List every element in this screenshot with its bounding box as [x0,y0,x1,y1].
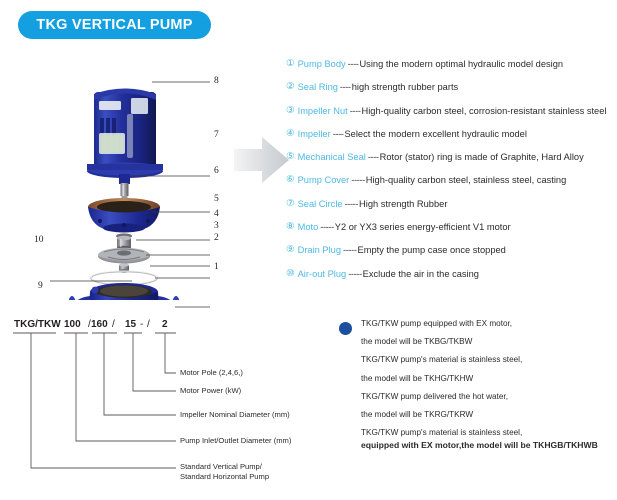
legend-description: High-quality carbon steel, stainless ste… [366,174,567,186]
code-label-standard-vert: Standard Vertical Pump/ [180,462,262,472]
legend-dash: ---- [350,105,361,117]
code-label-impeller-dia: Impeller Nominal Diameter (mm) [180,410,290,420]
variant-line: the model will be TKHG/TKHW [361,373,617,391]
callout-number-9: 9 [38,281,43,291]
legend-part-name: Impeller Nut [298,105,348,117]
legend-dash: ---- [333,128,344,140]
legend-item: ⑦ Seal Circle ----- High strength Rubber [286,198,617,221]
legend-dash: ---- [348,58,359,70]
code-label-motor-pole: Motor Pole (2,4,6,) [180,368,243,378]
model-code-breakdown: TKG/TKW / 100 / 160 - 15 / 2 [0,305,340,500]
legend-description: Using the modern optimal hydraulic model… [359,58,563,70]
legend-description: Rotor (stator) ring is made of Graphite,… [380,151,584,163]
callout-number-10: 10 [34,235,44,245]
legend-item: ② Seal Ring ---- high strength rubber pa… [286,81,617,104]
bullet-dot-icon [339,322,352,335]
legend-item: ⑧ Moto ----- Y2 or YX3 series energy-eff… [286,221,617,244]
legend-item: ⑥ Pump Cover ----- High-quality carbon s… [286,174,617,197]
exploded-pump-illustration [0,40,245,300]
variant-line: the model will be TKRG/TKRW [361,409,617,427]
legend-number: ⑦ [286,198,295,210]
legend-part-name: Mechanical Seal [298,151,366,163]
page-title-banner: TKG VERTICAL PUMP [18,11,211,39]
legend-item: ④ Impeller ---- Select the modern excell… [286,128,617,151]
code-label-standard-horiz: Standard Horizontal Pump [180,472,269,482]
legend-description: Y2 or YX3 series energy-efficient V1 mot… [335,221,511,233]
legend-item: ⑤ Mechanical Seal ---- Rotor (stator) ri… [286,151,617,174]
mechanical-seal-part [116,233,132,250]
code-label-inlet-dia: Pump Inlet/Outlet Diameter (mm) [180,436,291,446]
legend-description: Select the modern excellent hydraulic mo… [344,128,526,140]
legend-part-name: Pump Cover [298,174,350,186]
legend-part-name: Seal Circle [298,198,343,210]
motor-part [87,89,163,179]
legend-description: Exclude the air in the casing [363,268,479,280]
legend-item: ① Pump Body ---- Using the modern optima… [286,58,617,81]
legend-part-name: Moto [298,221,319,233]
legend-description: Empty the pump case once stopped [358,244,506,256]
variant-lines: TKG/TKW pump equipped with EX motor, the… [361,318,617,458]
callout-number-8: 8 [214,76,219,86]
variant-line: TKG/TKW pump equipped with EX motor, [361,318,617,336]
legend-number: ② [286,81,295,93]
right-arrow-icon [232,134,292,186]
legend-dash: ----- [348,268,361,280]
code-leader-lines [0,305,340,500]
seal-ring-part [91,271,157,285]
variant-line: equipped with EX motor,the model will be… [361,440,617,458]
legend-part-name: Air-out Plug [298,268,347,280]
page-root: TKG VERTICAL PUMP [0,0,617,500]
legend-number: ⑨ [286,244,295,256]
callout-number-1: 1 [214,262,219,272]
legend-dash: ----- [345,198,358,210]
legend-number: ⑥ [286,174,295,186]
legend-number: ④ [286,128,295,140]
legend-number: ⑧ [286,221,295,233]
legend-dash: ----- [320,221,333,233]
callout-number-5: 5 [214,194,219,204]
legend-description: high strength rubber parts [352,81,458,93]
callout-number-7: 7 [214,130,219,140]
legend-item: ⑨ Drain Plug ----- Empty the pump case o… [286,244,617,267]
legend-part-name: Pump Body [298,58,346,70]
callout-number-6: 6 [214,166,219,176]
callout-number-3: 3 [214,221,219,231]
legend-number: ① [286,58,295,70]
legend-number: ③ [286,105,295,117]
legend-description: High-quality carbon steel, corrosion-res… [362,105,607,117]
variant-line: TKG/TKW pump's material is stainless ste… [361,354,617,372]
pump-body-part [67,283,181,300]
legend-part-name: Impeller [298,128,331,140]
legend-description: High strength Rubber [359,198,447,210]
page-title: TKG VERTICAL PUMP [36,17,192,33]
legend-dash: ----- [343,244,356,256]
pump-cover-part [88,198,160,233]
callout-number-2: 2 [214,233,219,243]
callout-number-4: 4 [214,209,219,219]
legend-number: ⑤ [286,151,295,163]
legend-dash: ----- [351,174,364,186]
parts-legend-list: ① Pump Body ---- Using the modern optima… [286,58,617,291]
variant-line: the model will be TKBG/TKBW [361,336,617,354]
legend-part-name: Seal Ring [298,81,338,93]
legend-number: ⑩ [286,268,295,280]
code-label-motor-power: Motor Power (kW) [180,386,241,396]
legend-item: ⑩ Air-out Plug ----- Exclude the air in … [286,268,617,291]
legend-part-name: Drain Plug [298,244,341,256]
variant-line: TKG/TKW pump's material is stainless ste… [361,427,617,439]
legend-dash: ---- [340,81,351,93]
legend-dash: ---- [368,151,379,163]
legend-item: ③ Impeller Nut ---- High-quality carbon … [286,105,617,128]
variant-line: TKG/TKW pump delivered the hot water, [361,391,617,409]
impeller-part [98,248,150,264]
